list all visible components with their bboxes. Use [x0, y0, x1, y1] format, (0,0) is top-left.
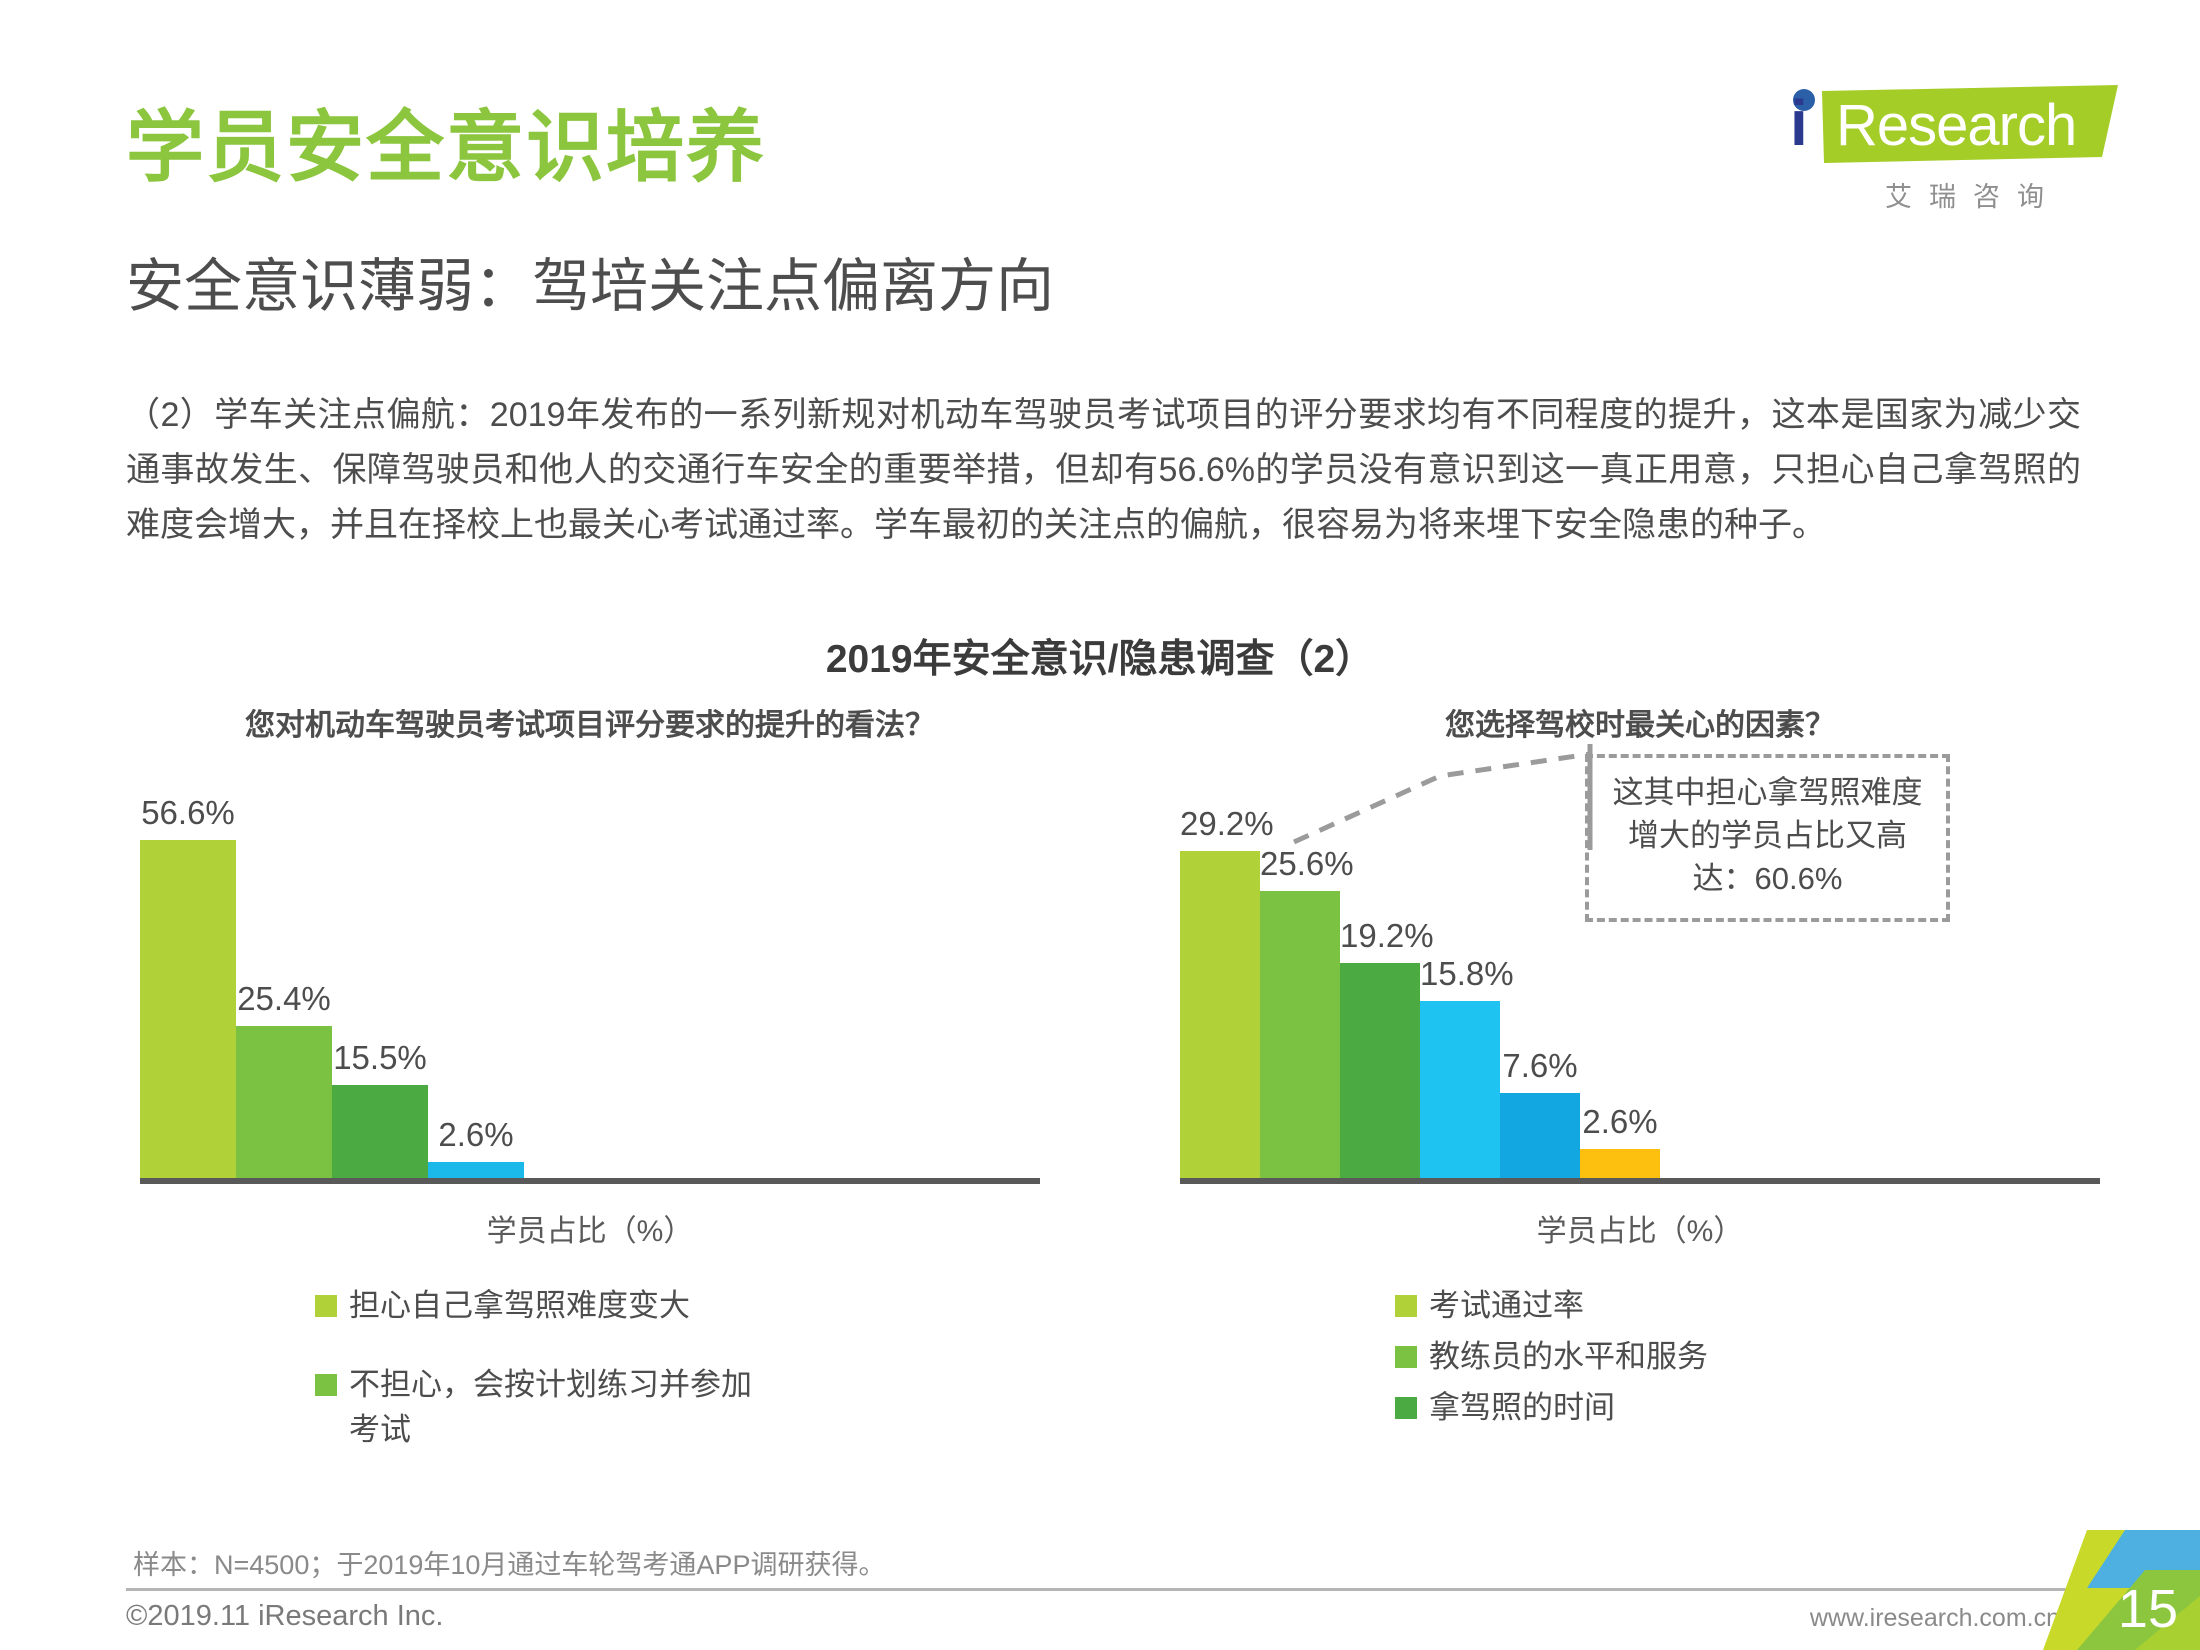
- bar-value-label: 19.2%: [1340, 917, 1420, 955]
- callout-line-1: 这其中担心拿驾照难度: [1599, 772, 1936, 815]
- legend-item-label: 考试通过率: [1429, 1284, 1584, 1329]
- bar-value-label: 2.6%: [428, 1116, 524, 1154]
- bar-column: 56.6%: [140, 758, 236, 1178]
- iresearch-logo: i Research 艾瑞咨询: [1780, 75, 2140, 225]
- legend-item: 教练员的水平和服务: [1395, 1335, 2100, 1380]
- legend-item: 担心自己拿驾照难度变大: [315, 1284, 1040, 1329]
- copyright-text: ©2019.11 iResearch Inc.: [126, 1600, 443, 1633]
- bar-value-label: 7.6%: [1500, 1047, 1580, 1085]
- legend-swatch-icon: [1395, 1397, 1417, 1419]
- legend-item: 考试通过率: [1395, 1284, 2100, 1329]
- callout-line-3: 达：60.6%: [1599, 858, 1936, 901]
- chart-right-legend: 考试通过率教练员的水平和服务拿驾照的时间: [1395, 1284, 2100, 1431]
- slide-root: 学员安全意识培养 安全意识薄弱：驾培关注点偏离方向 i Research 艾瑞咨…: [0, 0, 2200, 1650]
- bar-column: 25.4%: [236, 758, 332, 1178]
- footer-divider: [126, 1588, 2074, 1591]
- chart-left-legend: 担心自己拿驾照难度变大不担心，会按计划练习并参加考试: [315, 1284, 1040, 1453]
- chart-left-xlabel: 学员占比（%）: [140, 1206, 1040, 1250]
- legend-swatch-icon: [315, 1374, 337, 1396]
- bar-rect: [1340, 963, 1420, 1178]
- bar-value-label: 25.4%: [236, 980, 332, 1018]
- page-subtitle: 安全意识薄弱：驾培关注点偏离方向: [126, 258, 1054, 316]
- source-note: 样本：N=4500；于2019年10月通过车轮驾考通APP调研获得。: [133, 1543, 885, 1582]
- bar-column: 15.5%: [332, 758, 428, 1178]
- bar-rect: [1580, 1149, 1660, 1178]
- callout-box: 这其中担心拿驾照难度 增大的学员占比又高 达：60.6%: [1585, 754, 1950, 922]
- chart-left-title: 您对机动车驾驶员考试项目评分要求的提升的看法？: [140, 700, 1040, 744]
- callout-leader-line: [1290, 742, 1600, 852]
- bar-value-label: 15.8%: [1420, 955, 1500, 993]
- chart-right-title: 您选择驾校时最关心的因素？: [1180, 700, 2100, 744]
- chart-left-bars: 56.6%25.4%15.5%2.6%: [140, 758, 1040, 1178]
- legend-item-label: 担心自己拿驾照难度变大: [349, 1284, 690, 1329]
- bar-rect: [1500, 1093, 1580, 1178]
- bar-value-label: 56.6%: [140, 794, 236, 832]
- legend-item-label: 拿驾照的时间: [1429, 1386, 1615, 1431]
- bar-rect: [1260, 891, 1340, 1178]
- callout-line-2: 增大的学员占比又高: [1599, 815, 1936, 858]
- chart-left-axis: [140, 1178, 1040, 1184]
- bar-value-label: 15.5%: [332, 1039, 428, 1077]
- page-number: 15: [2118, 1582, 2178, 1636]
- bar-rect: [332, 1085, 428, 1178]
- logo-letter-i: i: [1790, 91, 1808, 155]
- legend-item: 不担心，会按计划练习并参加考试: [315, 1363, 1040, 1453]
- bar-rect: [236, 1026, 332, 1178]
- chart-left-plot: 56.6%25.4%15.5%2.6%: [140, 754, 1040, 1184]
- bar-column: 29.2%: [1180, 758, 1260, 1178]
- legend-item-label: 不担心，会按计划练习并参加考试: [349, 1363, 752, 1453]
- bar-value-label: 29.2%: [1180, 805, 1260, 843]
- logo-wordmark: Research: [1836, 97, 2076, 155]
- legend-swatch-icon: [315, 1295, 337, 1317]
- legend-swatch-icon: [1395, 1346, 1417, 1368]
- body-paragraph: （2）学车关注点偏航：2019年发布的一系列新规对机动车驾驶员考试项目的评分要求…: [126, 388, 2081, 553]
- bar-column: 2.6%: [428, 758, 524, 1178]
- bar-value-label: 2.6%: [1580, 1103, 1660, 1141]
- page-title: 学员安全意识培养: [126, 108, 766, 186]
- bar-rect: [428, 1162, 524, 1178]
- chart-panel-left: 您对机动车驾驶员考试项目评分要求的提升的看法？ 56.6%25.4%15.5%2…: [140, 700, 1040, 1487]
- chart-right-axis: [1180, 1178, 2100, 1184]
- chart-section-title: 2019年安全意识/隐患调查（2）: [0, 628, 2200, 684]
- legend-item-label: 教练员的水平和服务: [1429, 1335, 1708, 1380]
- chart-right-xlabel: 学员占比（%）: [1180, 1206, 2100, 1250]
- bar-rect: [140, 840, 236, 1178]
- bar-rect: [1420, 1001, 1500, 1178]
- bar-rect: [1180, 851, 1260, 1178]
- logo-chinese-name: 艾瑞咨询: [1828, 175, 2118, 214]
- legend-item: 拿驾照的时间: [1395, 1386, 2100, 1431]
- legend-swatch-icon: [1395, 1295, 1417, 1317]
